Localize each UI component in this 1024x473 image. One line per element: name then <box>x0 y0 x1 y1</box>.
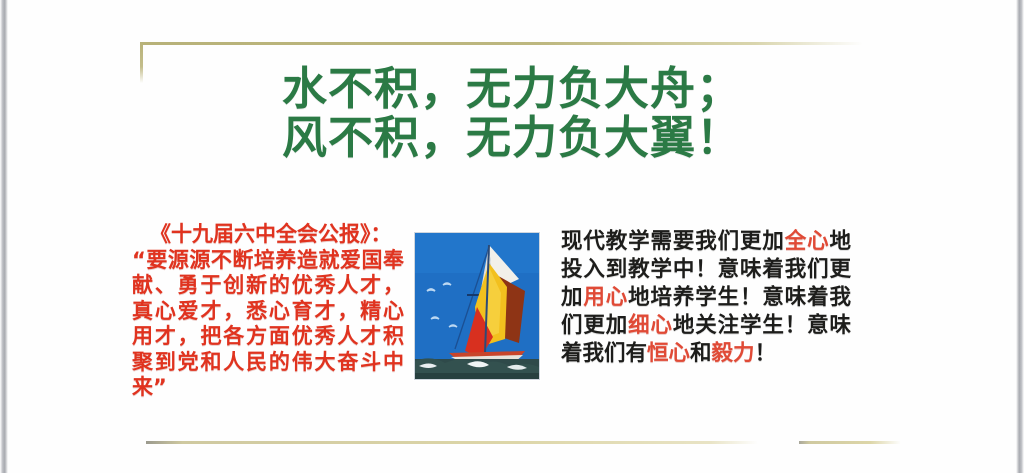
slide-headline: 水不积，无力负大舟； 风不积，无力负大翼！ <box>8 64 1016 162</box>
sailboat-photo <box>414 232 540 380</box>
decorative-rule-bottom-left <box>146 441 758 444</box>
body-paragraph: 现代教学需要我们更加全心地投入到教学中！意味着我们更加用心地培养学生！意味着我们… <box>561 228 851 368</box>
body-emphasis-5: 细心 <box>628 313 673 338</box>
body-emphasis-9: 毅力 <box>712 341 755 366</box>
body-text-10: ！ <box>755 341 777 366</box>
quote-block: 《十九届六中全会公报》：“要源源不断培养造就爱国奉献、勇于创新的优秀人才，真心爱… <box>132 222 404 401</box>
sailboat-illustration <box>415 233 539 379</box>
left-edge-strip <box>0 0 8 473</box>
body-text-0: 现代教学需要我们更加 <box>561 229 785 254</box>
body-emphasis-1: 全心 <box>785 229 830 254</box>
slide-content-row: 《十九届六中全会公报》：“要源源不断培养造就爱国奉献、勇于创新的优秀人才，真心爱… <box>8 222 1016 412</box>
slide-canvas: 水不积，无力负大舟； 风不积，无力负大翼！ 《十九届六中全会公报》：“要源源不断… <box>8 0 1016 473</box>
quote-source: 《十九届六中全会公报》： <box>132 222 404 248</box>
body-emphasis-3: 用心 <box>583 285 628 310</box>
headline-line-1: 水不积，无力负大舟； <box>8 64 1016 113</box>
headline-line-2: 风不积，无力负大翼！ <box>8 113 1016 162</box>
quote-text: “要源源不断培养造就爱国奉献、勇于创新的优秀人才，真心爱才，悉心育才，精心用才，… <box>132 248 404 400</box>
body-emphasis-7: 恒心 <box>647 341 690 366</box>
right-edge-strip <box>1016 0 1024 473</box>
body-text-8: 和 <box>690 341 712 366</box>
presentation-slide: 水不积，无力负大舟； 风不积，无力负大翼！ 《十九届六中全会公报》：“要源源不断… <box>0 0 1024 473</box>
decorative-rule-bottom-right <box>799 441 901 444</box>
decorative-rule-top-horizontal <box>140 42 863 45</box>
